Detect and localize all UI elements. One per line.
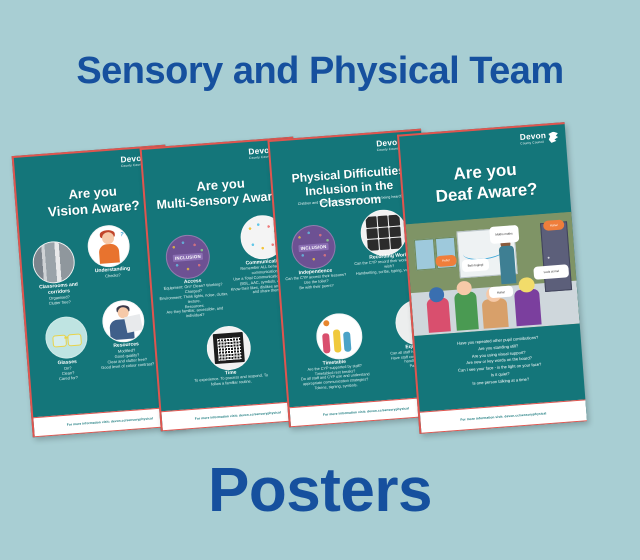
locker-photo-icon xyxy=(31,240,76,285)
poster-deaf-aware[interactable]: Devon County Council Are you Deaf Aware? xyxy=(397,122,587,434)
sports-children-icon xyxy=(315,312,364,361)
glasses-icon xyxy=(44,315,89,360)
devon-logo: Devon County Council xyxy=(520,131,559,146)
child-reading-icon xyxy=(101,299,146,344)
poster-fan: Devon County Council Are you Vision Awar… xyxy=(0,118,640,448)
devon-bird-icon xyxy=(548,131,559,143)
page-title: Sensory and Physical Team xyxy=(0,50,640,93)
section-timetable: Timetable Are the CYP supported by staff… xyxy=(292,357,378,393)
section-independence: Independence Can the CYP access their le… xyxy=(281,266,350,292)
speech-bubble: Hello! xyxy=(435,254,458,267)
speech-bubble: Haha! xyxy=(489,286,513,299)
section-resources: Resources Modified? Good quality? Clear … xyxy=(96,340,158,370)
inclusion-badge-icon: INCLUSION xyxy=(290,223,337,270)
calendar-clock-icon xyxy=(205,324,252,371)
slide-canvas: Sensory and Physical Team Devon County C… xyxy=(0,0,640,560)
speech-bubble: Maths maths xyxy=(489,225,519,244)
logo-subtext: County Council xyxy=(521,141,547,146)
section-classrooms: Classrooms and corridors Organised? Clut… xyxy=(27,281,90,308)
speech-bubble: Bell ringing! xyxy=(462,259,490,273)
section-glasses: Glasses On? Clean? Cared for? xyxy=(39,357,96,382)
section-access: Access Equipment: On? Clean? Working? Ch… xyxy=(156,276,233,322)
speech-bubble: Look at me! xyxy=(533,264,569,280)
child-question-icon: ? xyxy=(86,224,131,269)
device-icons-grid-icon xyxy=(359,208,408,257)
speech-bubble: Haha! xyxy=(543,219,564,230)
footer-word: Posters xyxy=(0,455,640,526)
section-time: Time To experience. To process and respo… xyxy=(189,367,274,389)
deaf-aware-question-list: Have you repeated other pupil contributi… xyxy=(415,332,584,392)
classroom-scene-icon: Hello! Bell ringing! Maths maths Haha! L… xyxy=(406,212,580,336)
poster-footer: For more information visit: devon.cc/sen… xyxy=(420,399,587,433)
inclusion-badge-icon: INCLUSION xyxy=(164,233,211,280)
